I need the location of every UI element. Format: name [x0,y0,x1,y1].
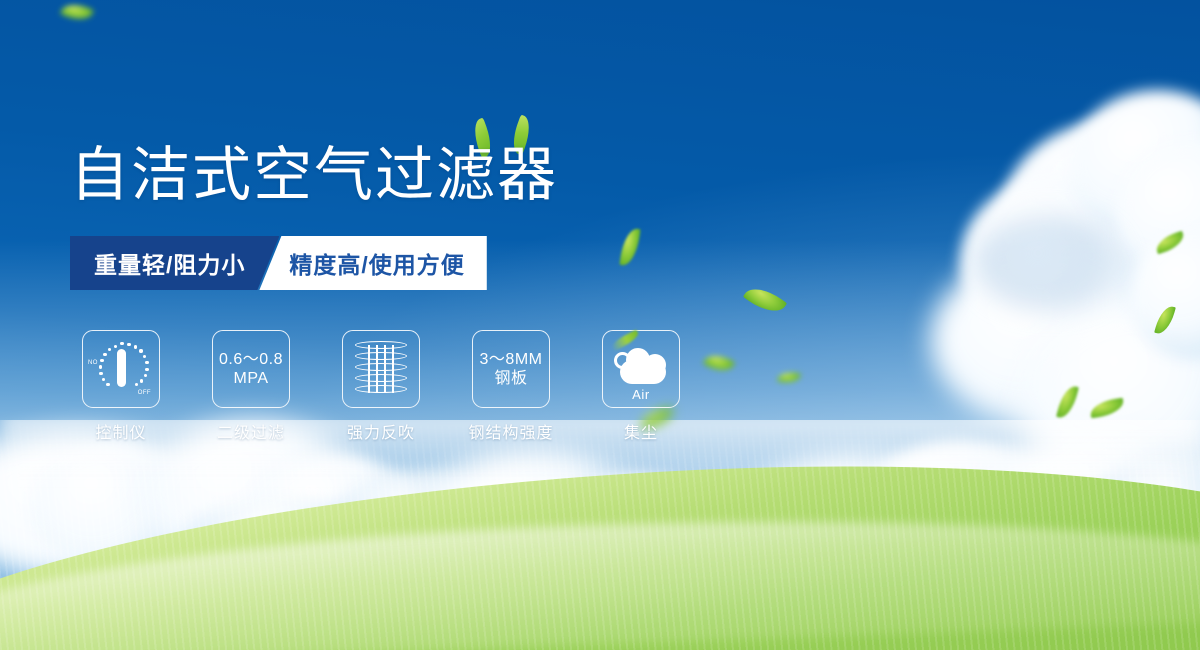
feature-strong-blowback[interactable]: 强力反吹 [330,330,432,443]
feature-controller[interactable]: NO OFF 控制仪 [70,330,172,443]
feature-dust-collection[interactable]: Air 集尘 [590,330,692,443]
feature-secondary-filtration[interactable]: 0.6〜0.8 MPA 二级过滤 [200,330,302,443]
coil-blowback-icon [342,330,420,408]
gauge-dial-icon: NO OFF [82,330,160,408]
steel-plate-text-icon: 3〜8MM 钢板 [472,330,550,408]
tagline-strip: 重量轻/阻力小 精度高/使用方便 [70,236,487,290]
steel-thickness-line2: 钢板 [494,369,527,388]
feature-label-secondary-filtration: 二级过滤 [217,419,285,443]
pressure-range-line1: 0.6〜0.8 [219,350,283,369]
air-text-label: Air [612,387,670,402]
pressure-text-icon: 0.6〜0.8 MPA [212,330,290,408]
feature-label-controller: 控制仪 [95,419,146,443]
feature-icon-row: NO OFF 控制仪 0.6〜0.8 MPA 二级过滤 [70,330,692,443]
gauge-off-label: OFF [138,390,151,396]
tag-precision-easyuse: 精度高/使用方便 [259,236,486,290]
steel-thickness-line1: 3〜8MM [480,350,543,369]
product-hero-banner: 自洁式空气过滤器 重量轻/阻力小 精度高/使用方便 [0,0,1200,650]
feature-label-strong-blowback: 强力反吹 [347,419,415,443]
feature-steel-strength[interactable]: 3〜8MM 钢板 钢结构强度 [460,330,562,443]
air-cloud-icon: Air [602,330,680,408]
feature-label-dust-collection: 集尘 [624,419,658,443]
tag-lightweight-lowresistance: 重量轻/阻力小 [70,236,279,290]
grass-field [0,420,1200,650]
gauge-no-label: NO [88,360,98,366]
pressure-range-line2: MPA [234,369,269,388]
feature-label-steel-strength: 钢结构强度 [468,419,553,443]
page-title: 自洁式空气过滤器 [70,146,558,205]
